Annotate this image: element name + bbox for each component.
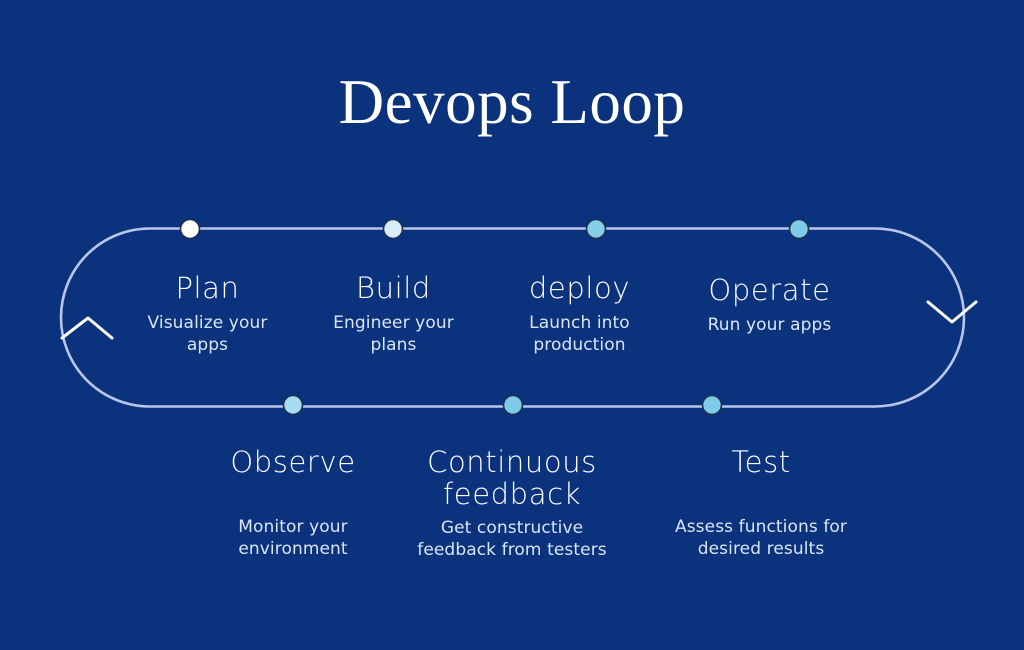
stage-operate: Operate Run your apps [672, 274, 867, 337]
stage-test: Test Assess functions for desired result… [650, 446, 872, 561]
stage-dot-build[interactable] [384, 220, 403, 239]
stage-observe: Observe Monitor your environment [193, 446, 393, 561]
stage-plan-title: Plan [110, 272, 305, 304]
stage-dot-observe[interactable] [284, 396, 303, 415]
stage-observe-title: Observe [193, 446, 393, 478]
stage-dot-plan[interactable] [181, 220, 200, 239]
stage-deploy: deploy Launch into production [482, 272, 677, 357]
stage-deploy-description: Launch into production [482, 313, 677, 357]
stage-build: Build Engineer your plans [296, 272, 491, 357]
stage-plan: Plan Visualize your apps [110, 272, 305, 357]
right-arrowhead-icon [928, 302, 976, 322]
stage-plan-description: Visualize your apps [110, 313, 305, 357]
stage-build-title: Build [296, 272, 491, 304]
stage-dot-operate[interactable] [790, 220, 809, 239]
stage-test-description: Assess functions for desired results [650, 517, 872, 561]
stage-dot-deploy[interactable] [587, 220, 606, 239]
devops-loop-diagram: Devops Loop Plan Visualize your apps Bui… [0, 0, 1024, 650]
left-arrowhead-icon [62, 318, 112, 338]
stage-continuous-feedback-description: Get constructive feedback from testers [388, 518, 636, 562]
stage-operate-description: Run your apps [672, 315, 867, 337]
stage-test-title: Test [650, 446, 872, 478]
stage-dot-continuous-feedback[interactable] [504, 396, 523, 415]
stage-observe-description: Monitor your environment [193, 517, 393, 561]
stage-dot-test[interactable] [703, 396, 722, 415]
stage-build-description: Engineer your plans [296, 313, 491, 357]
stage-deploy-title: deploy [482, 272, 677, 304]
stage-continuous-feedback: Continuous feedback Get constructive fee… [388, 446, 636, 561]
stage-continuous-feedback-title: Continuous feedback [388, 446, 636, 511]
stage-operate-title: Operate [672, 274, 867, 306]
